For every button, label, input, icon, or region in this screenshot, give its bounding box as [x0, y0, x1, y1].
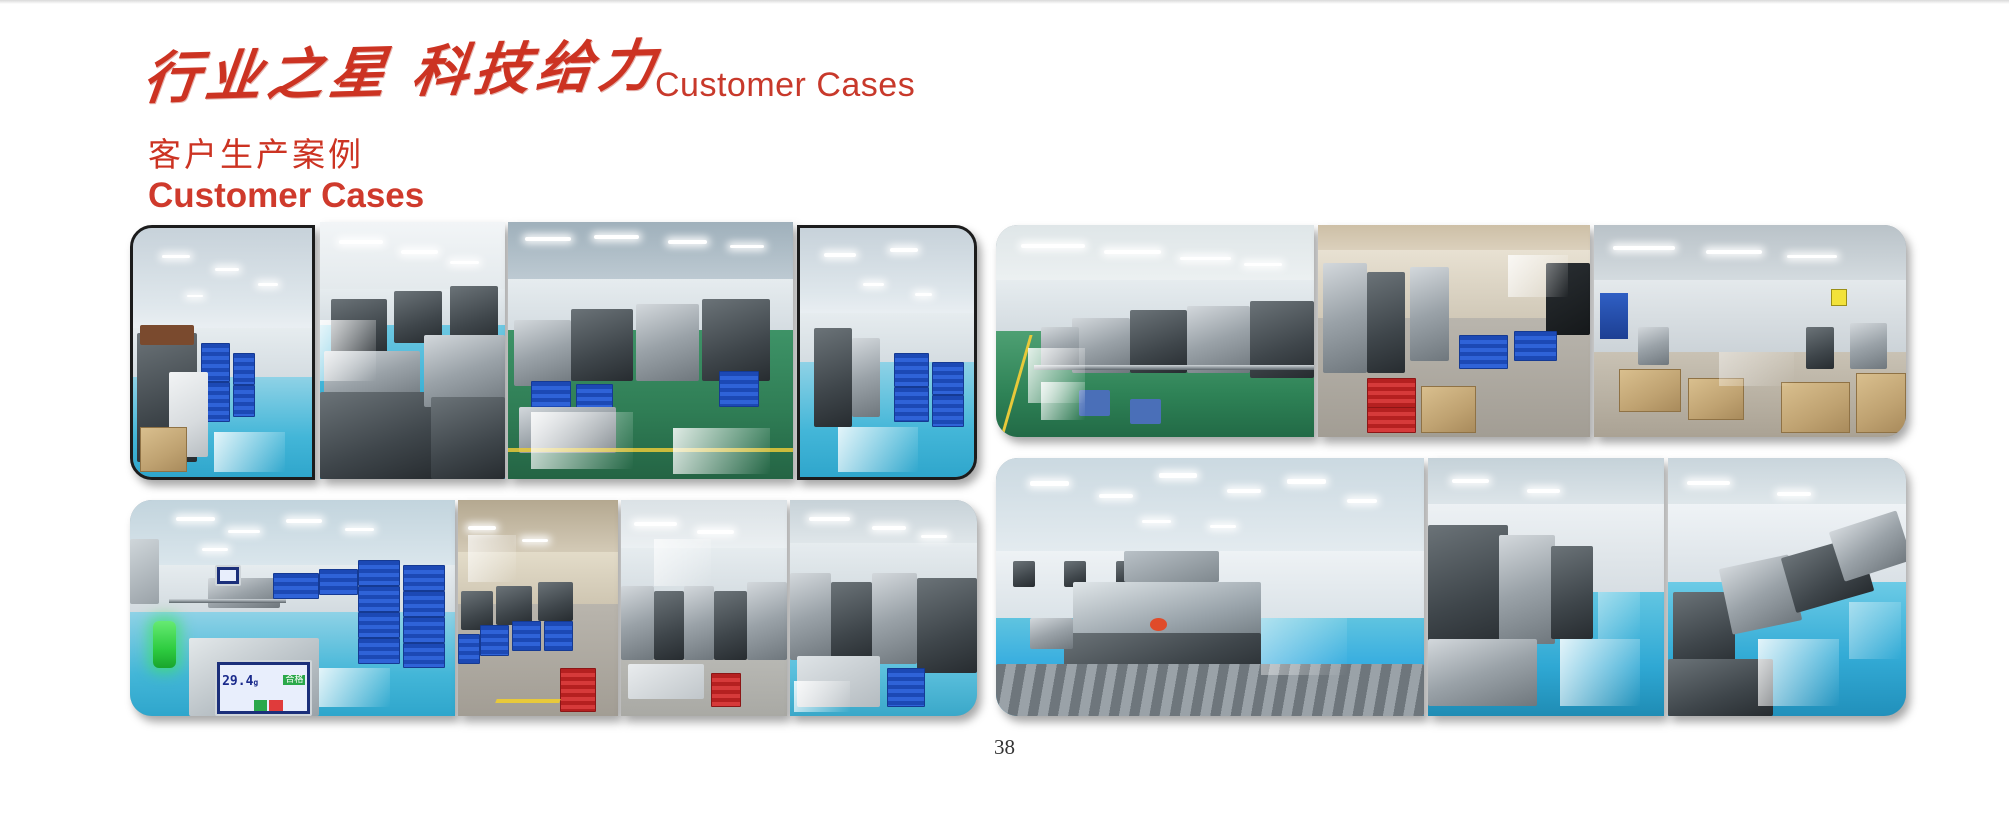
photo-scene-r1c6 [1318, 225, 1590, 437]
gallery-photo-r1c5[interactable] [996, 225, 1314, 437]
photo-scene-r2c7 [1668, 458, 1906, 716]
photo-scene-r1c7 [1594, 225, 1906, 437]
page-number: 38 [0, 735, 2009, 760]
gallery-photo-r2c3[interactable] [621, 500, 787, 716]
top-rule [0, 0, 2009, 4]
photo-scene-r2c5 [996, 458, 1424, 716]
gallery-photo-r1c4[interactable] [797, 225, 977, 480]
photo-scene-r1c3 [508, 222, 793, 479]
slide-canvas: 行业之星 科技给力 Customer Cases 客户生产案例 Customer… [0, 0, 2009, 838]
slide-header: 行业之星 科技给力 Customer Cases [140, 52, 656, 108]
gallery-photo-r2c5[interactable] [996, 458, 1424, 716]
gallery-photo-r1c2[interactable] [320, 222, 505, 479]
photo-scene-r1c2 [320, 222, 505, 479]
gallery-photo-r1c1[interactable] [130, 225, 315, 480]
weigher-value: 29.4g [222, 675, 258, 688]
photo-scene-r2c1: 29.4g 合格 [130, 500, 455, 716]
tower-lamp-green [153, 621, 176, 669]
subtitle-english: Customer Cases [148, 176, 424, 216]
photo-scene-r1c5 [996, 225, 1314, 437]
gallery-photo-r1c6[interactable] [1318, 225, 1590, 437]
photo-scene-r2c3 [621, 500, 787, 716]
photo-scene-r2c4 [790, 500, 977, 716]
gallery-photo-r1c7[interactable] [1594, 225, 1906, 437]
gallery-photo-r2c4[interactable] [790, 500, 977, 716]
subtitle-chinese: 客户生产案例 [148, 128, 364, 176]
calligraphy-title: 行业之星 科技给力 [140, 39, 664, 108]
photo-scene-r2c6 [1428, 458, 1664, 716]
gallery-photo-r1c3[interactable] [508, 222, 793, 479]
header-english-label: Customer Cases [655, 66, 915, 105]
gallery-photo-r2c1[interactable]: 29.4g 合格 [130, 500, 455, 716]
gallery-photo-r2c6[interactable] [1428, 458, 1664, 716]
weigher-status: 合格 [283, 675, 305, 685]
photo-scene-r1c4 [800, 228, 974, 477]
gallery-photo-r2c2[interactable] [458, 500, 618, 716]
photo-scene-r1c1 [133, 228, 312, 477]
weigher-display: 29.4g 合格 [215, 660, 313, 716]
photo-scene-r2c2 [458, 500, 618, 716]
gallery-photo-r2c7[interactable] [1668, 458, 1906, 716]
